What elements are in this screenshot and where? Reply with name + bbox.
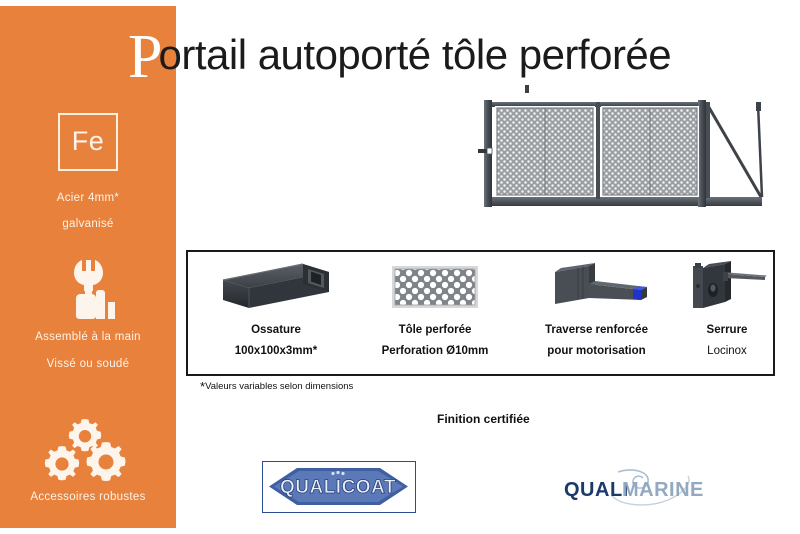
- feature-tole-title: Tôle perforée: [356, 324, 514, 336]
- reinforced-crossbeam-icon: [514, 258, 679, 316]
- qualicoat-wordmark: QUALICOAT: [280, 477, 396, 498]
- feature-traverse-title: Traverse renforcée: [514, 324, 679, 336]
- feature-ossature-title: Ossature: [196, 324, 356, 336]
- perforated-sheet-icon: [356, 258, 514, 316]
- feature-serrure-brand: Locinox: [679, 345, 775, 357]
- feature-ossature: Ossature 100x100x3mm*: [196, 252, 356, 378]
- qualimarine-wordmark-light: MARINE: [622, 479, 704, 501]
- sidebar-label-visse: Vissé ou soudé: [0, 358, 176, 370]
- sidebar-label-galvanise: galvanisé: [0, 218, 176, 230]
- qualicoat-logo: QUALICOAT: [262, 461, 416, 513]
- feature-ossature-spec: 100x100x3mm*: [196, 345, 356, 357]
- feature-tole-perforee: Tôle perforée Perforation Ø10mm: [356, 252, 514, 378]
- feature-traverse-spec: pour motorisation: [514, 345, 679, 357]
- certification-heading: Finition certifiée: [437, 412, 530, 426]
- feature-serrure: Serrure Locinox: [679, 252, 775, 378]
- footnote: *Valeurs variables selon dimensions: [200, 381, 353, 396]
- steel-profile-icon: [196, 258, 356, 316]
- fe-element-box: Fe: [58, 113, 118, 171]
- hand-wrench-icon: [56, 258, 120, 325]
- title-text: ortail autoporté tôle perforée: [158, 31, 671, 78]
- feature-tole-spec: Perforation Ø10mm: [356, 345, 514, 357]
- page-title: Portail autoporté tôle perforée: [128, 24, 788, 82]
- features-panel: Ossature 100x100x3mm*: [186, 250, 775, 376]
- fe-symbol: Fe: [60, 126, 116, 157]
- gears-icon: [42, 418, 134, 489]
- footnote-star: *: [200, 379, 205, 394]
- cantilever-sliding-gate-drawing: [470, 85, 770, 215]
- footnote-text: Valeurs variables selon dimensions: [205, 381, 353, 392]
- lock-icon: [679, 258, 775, 316]
- sidebar-label-acier: Acier 4mm*: [0, 192, 176, 204]
- feature-serrure-title: Serrure: [679, 324, 775, 336]
- qualimarine-wordmark-bold: QUALI: [564, 479, 629, 501]
- sidebar-label-accessoires: Accessoires robustes: [0, 491, 176, 503]
- feature-traverse-renforcee: Traverse renforcée pour motorisation: [514, 252, 679, 378]
- product-datasheet: Fe Acier 4mm* galvanisé Assemblé à: [0, 0, 800, 534]
- sidebar-label-assemble: Assemblé à la main: [0, 331, 176, 343]
- qualimarine-logo: QUALI MARINE: [560, 466, 720, 512]
